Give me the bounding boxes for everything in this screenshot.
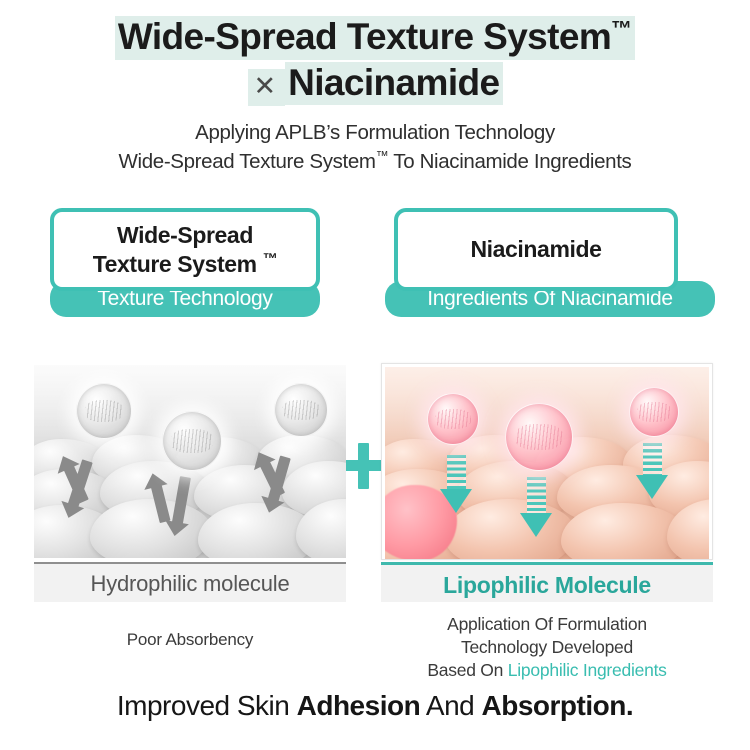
footer-bold-adhesion: Adhesion: [297, 690, 421, 721]
trademark-symbol: ™: [611, 18, 632, 41]
absorption-arrow: [527, 477, 552, 537]
hydrophilic-illustration: [34, 365, 346, 558]
lipophilic-footnote-line-3: Based On Lipophilic Ingredients: [381, 659, 713, 682]
right-concept-box: Niacinamide Ingredients Of Niacinamide: [385, 208, 715, 327]
molecule-texture: [637, 402, 672, 421]
footer-statement: Improved Skin Adhesion And Absorption.: [0, 690, 750, 722]
absorption-arrow: [643, 443, 668, 499]
hydrophilic-frame: [34, 365, 346, 558]
lipophilic-footnote-line-2: Technology Developed: [381, 636, 713, 659]
lipophilic-molecule: [629, 387, 679, 437]
title-line-1: Wide-Spread Texture System™: [0, 16, 750, 60]
trademark-symbol: ™: [263, 250, 278, 267]
lipophilic-footnote: Application Of Formulation Technology De…: [381, 613, 713, 682]
left-box-title: Wide-Spread Texture System ™: [93, 221, 278, 277]
subtitle-line-1: Applying APLB’s Formulation Technology: [0, 118, 750, 147]
hydrophilic-molecule: [76, 383, 132, 439]
molecule-texture: [282, 400, 319, 421]
arrow-head: [440, 489, 472, 513]
lipophilic-molecule: [427, 393, 479, 445]
right-box-title: Niacinamide: [470, 235, 601, 263]
subtitle-line-2: Wide-Spread Texture System™ To Niacinami…: [0, 147, 750, 176]
footer-bold-absorption: Absorption.: [482, 690, 634, 721]
arrow-shaft: [643, 443, 662, 475]
title-line-2: ✕Niacinamide: [0, 62, 750, 109]
comparison-boxes: Wide-Spread Texture System ™ Texture Tec…: [0, 208, 750, 348]
footer-part-1: Improved Skin: [117, 690, 297, 721]
absorption-arrow: [447, 455, 472, 513]
lipophilic-panel: Lipophilic Molecule: [381, 363, 713, 602]
lipophilic-footnote-line-1: Application Of Formulation: [381, 613, 713, 636]
trademark-symbol: ™: [376, 148, 389, 163]
right-box-card: Niacinamide: [394, 208, 678, 291]
molecule-texture: [435, 409, 471, 429]
molecule-texture: [171, 429, 213, 452]
title-headline-part-1: Wide-Spread Texture System™: [115, 16, 635, 60]
title-headline-part-2: Niacinamide: [285, 62, 502, 106]
lipophilic-caption: Lipophilic Molecule: [381, 562, 713, 602]
hydrophilic-footnote: Poor Absorbency: [34, 630, 346, 650]
lipophilic-illustration: [385, 367, 709, 559]
multiply-x-icon: ✕: [248, 69, 286, 106]
subtitle: Applying APLB’s Formulation Technology W…: [0, 118, 750, 176]
hydrophilic-molecule: [274, 383, 328, 437]
arrow-head: [636, 475, 668, 499]
hydrophilic-caption: Hydrophilic molecule: [34, 562, 346, 602]
lipophilic-ingredients-highlight: Lipophilic Ingredients: [508, 660, 667, 680]
lipophilic-molecule: [505, 403, 573, 471]
lipophilic-frame: [381, 363, 713, 560]
left-box-card: Wide-Spread Texture System ™: [50, 208, 320, 291]
molecule-texture: [515, 424, 563, 450]
footer-part-2: And: [420, 690, 481, 721]
hydrophilic-panel: Hydrophilic molecule: [34, 365, 346, 602]
left-concept-box: Wide-Spread Texture System ™ Texture Tec…: [50, 208, 320, 327]
hydrophilic-molecule: [162, 411, 222, 471]
page-title: Wide-Spread Texture System™ ✕Niacinamide: [0, 16, 750, 109]
molecule-texture: [85, 400, 124, 422]
arrow-head: [520, 513, 552, 537]
arrow-shaft: [527, 477, 546, 513]
arrow-shaft: [447, 455, 466, 489]
